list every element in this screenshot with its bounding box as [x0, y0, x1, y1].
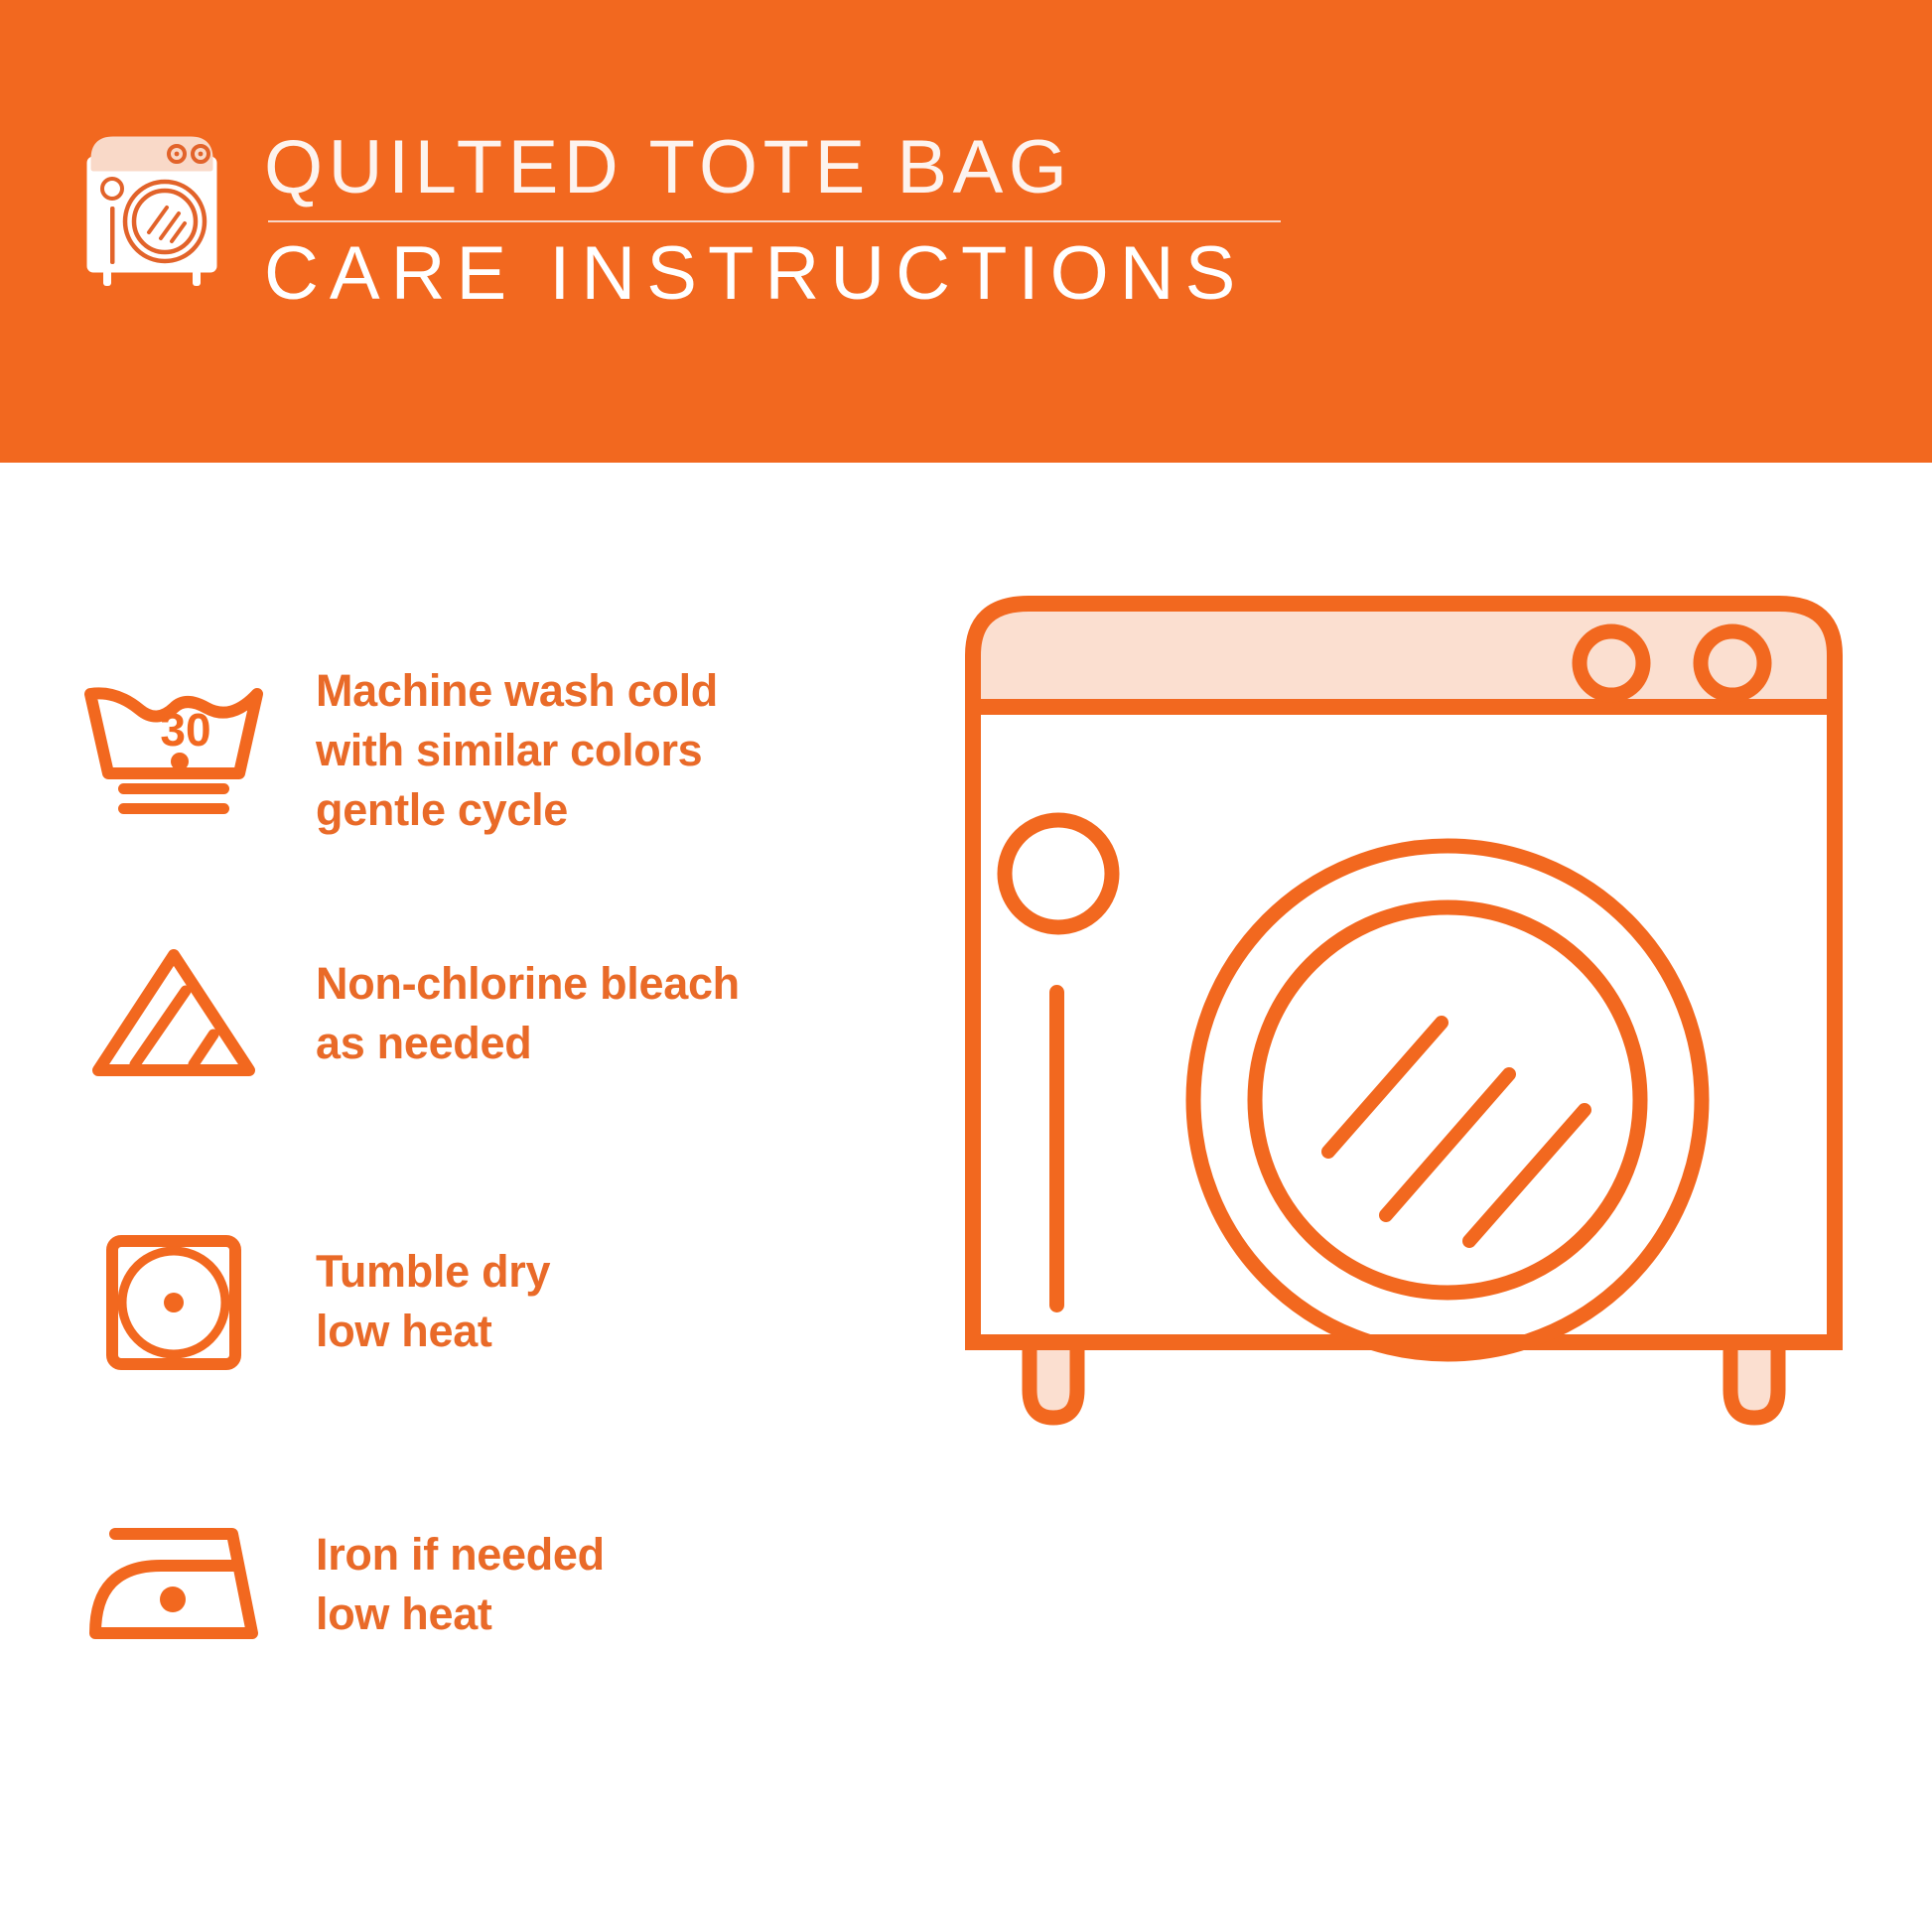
- care-line: Tumble dry: [316, 1242, 550, 1302]
- care-label-tumble-dry: Tumble dry low heat: [316, 1242, 550, 1361]
- care-row-iron: Iron if needed low heat: [0, 1510, 953, 1659]
- care-label-bleach: Non-chlorine bleach as needed: [316, 954, 740, 1073]
- care-label-machine-wash: Machine wash cold with similar colors ge…: [316, 661, 718, 840]
- wash-basin-30-icon: 30: [60, 676, 288, 825]
- care-instruction-list: 30 Machine wash cold with similar colors…: [0, 463, 953, 1932]
- care-line: low heat: [316, 1302, 550, 1361]
- care-line: Machine wash cold: [316, 661, 718, 721]
- care-line: with similar colors: [316, 721, 718, 780]
- iron-low-heat-icon: [60, 1510, 288, 1659]
- care-label-iron: Iron if needed low heat: [316, 1525, 605, 1644]
- header-banner: QUILTED TOTE BAG CARE INSTRUCTIONS: [0, 0, 1932, 463]
- care-line: Iron if needed: [316, 1525, 605, 1585]
- care-row-machine-wash: 30 Machine wash cold with similar colors…: [0, 661, 953, 840]
- page-title: QUILTED TOTE BAG: [264, 129, 1281, 207]
- care-line: gentle cycle: [316, 780, 718, 840]
- care-row-tumble-dry: Tumble dry low heat: [0, 1227, 953, 1376]
- washer-knob-right: [1701, 631, 1764, 695]
- care-line: as needed: [316, 1014, 740, 1073]
- tumble-dry-low-icon: [60, 1227, 288, 1376]
- non-chlorine-bleach-triangle-icon: [60, 939, 288, 1088]
- title-divider: [268, 220, 1281, 222]
- wash-temperature-value: 30: [160, 704, 210, 756]
- washing-machine-icon: [77, 127, 226, 291]
- washer-handle-bar: [1049, 985, 1064, 1312]
- care-line: Non-chlorine bleach: [316, 954, 740, 1014]
- front-load-washing-machine-illustration: [953, 596, 1932, 1866]
- washer-knob-left: [1580, 631, 1643, 695]
- header-content: QUILTED TOTE BAG CARE INSTRUCTIONS: [77, 127, 1281, 314]
- header-titles: QUILTED TOTE BAG CARE INSTRUCTIONS: [264, 127, 1281, 314]
- care-row-bleach: Non-chlorine bleach as needed: [0, 939, 953, 1088]
- care-line: low heat: [316, 1585, 605, 1644]
- washer-body: [973, 707, 1835, 1342]
- page-subtitle: CARE INSTRUCTIONS: [264, 234, 1281, 314]
